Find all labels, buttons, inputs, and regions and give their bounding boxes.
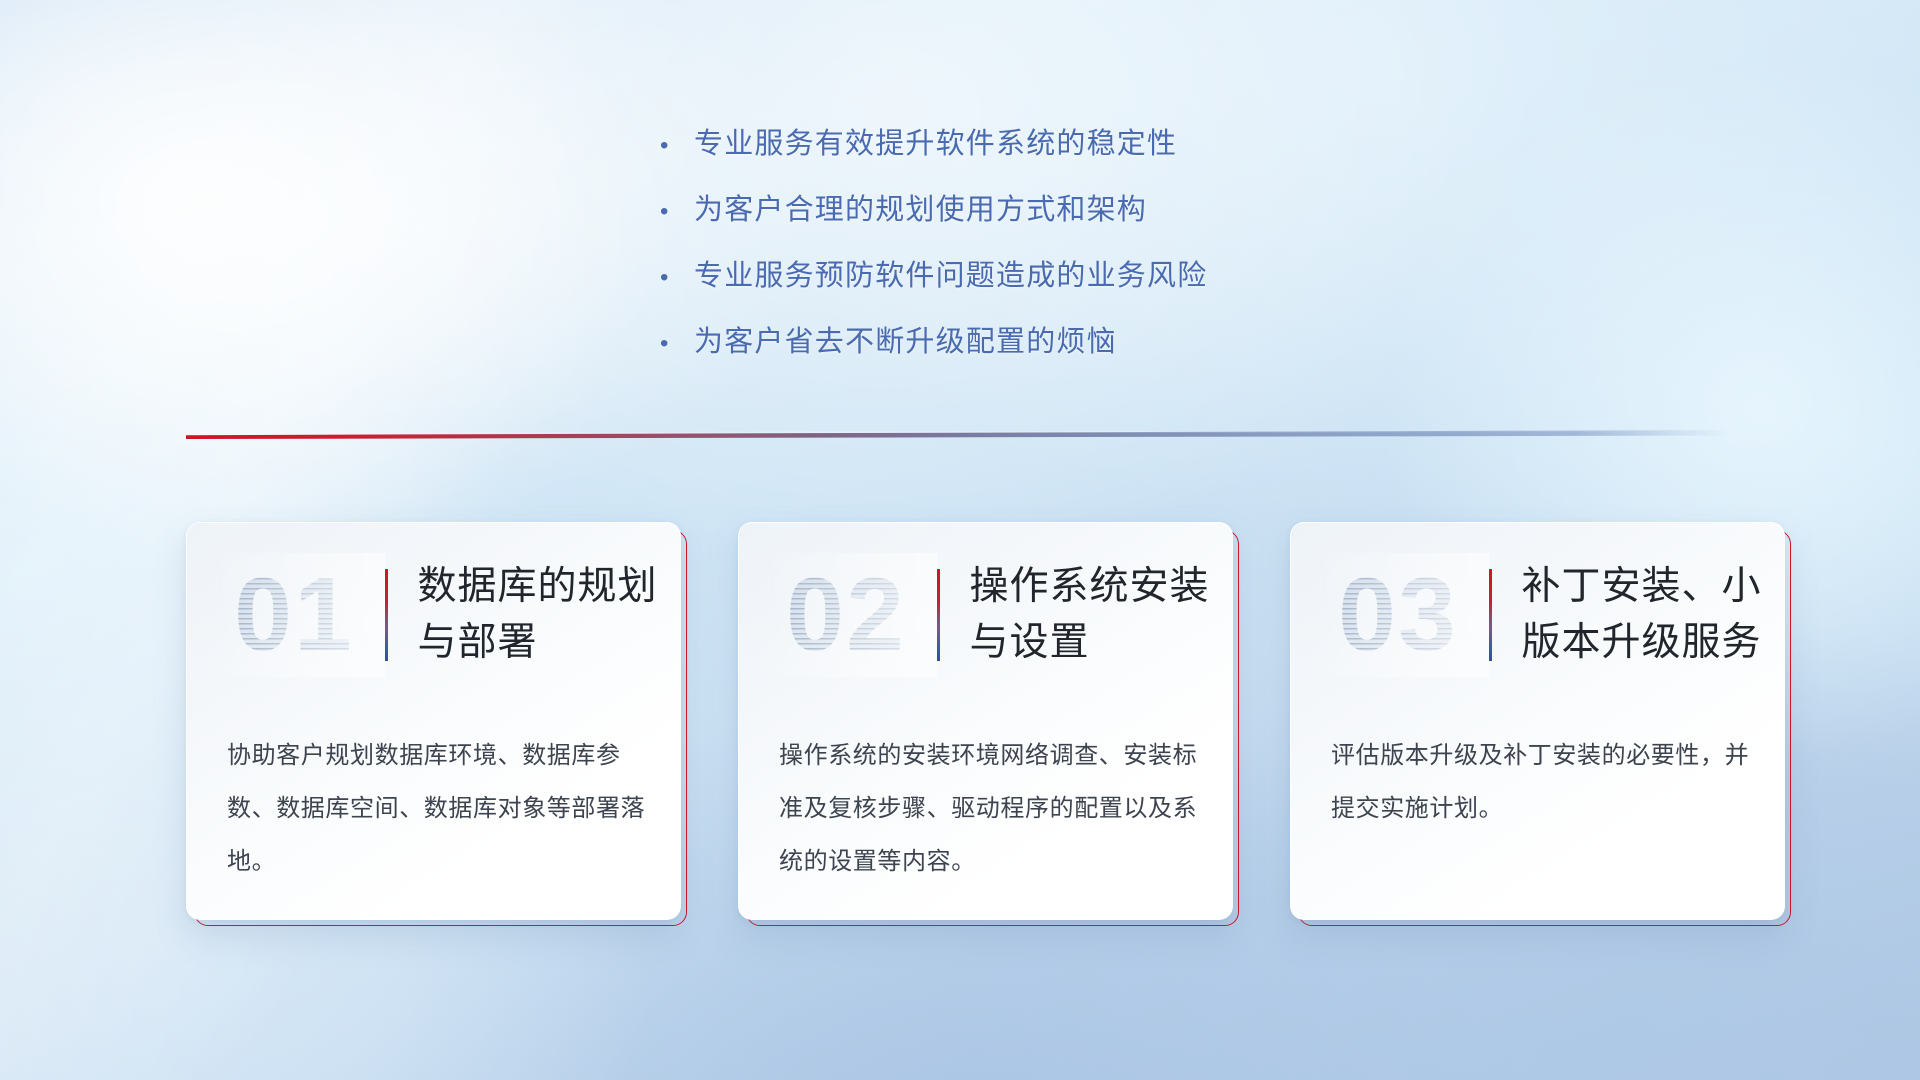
bullet-text: 为客户省去不断升级配置的烦恼: [694, 310, 1117, 374]
card-surface: 02 操作系统安装与设置 操作系统的安装环境网络调查、安装标准及复核步骤、驱动程…: [738, 522, 1233, 920]
card-description: 协助客户规划数据库环境、数据库参数、数据库空间、数据库对象等部署落地。: [227, 729, 646, 888]
list-item: • 专业服务预防软件问题造成的业务风险: [660, 244, 1440, 310]
service-card-group: 01 数据库的规划与部署 协助客户规划数据库环境、数据库参数、数据库空间、数据库…: [186, 522, 1785, 920]
bullet-text: 专业服务预防软件问题造成的业务风险: [694, 244, 1207, 308]
bullet-dot-icon: •: [660, 312, 694, 376]
service-card-02[interactable]: 02 操作系统安装与设置 操作系统的安装环境网络调查、安装标准及复核步骤、驱动程…: [738, 522, 1233, 920]
list-item: • 为客户合理的规划使用方式和架构: [660, 178, 1440, 244]
card-description: 评估版本升级及补丁安装的必要性，并提交实施计划。: [1331, 729, 1750, 835]
section-divider: [186, 430, 1728, 439]
card-header: 02 操作系统安装与设置: [739, 553, 1232, 677]
card-description: 操作系统的安装环境网络调查、安装标准及复核步骤、驱动程序的配置以及系统的设置等内…: [779, 729, 1198, 888]
card-surface: 03 补丁安装、小版本升级服务 评估版本升级及补丁安装的必要性，并提交实施计划。: [1290, 522, 1785, 920]
bullet-dot-icon: •: [660, 246, 694, 310]
card-title-rule: [937, 569, 940, 661]
benefits-bullet-list: • 专业服务有效提升软件系统的稳定性 • 为客户合理的规划使用方式和架构 • 专…: [660, 112, 1440, 376]
background-glow-top-left: [0, 0, 640, 580]
list-item: • 为客户省去不断升级配置的烦恼: [660, 310, 1440, 376]
bullet-text: 专业服务有效提升软件系统的稳定性: [694, 112, 1177, 176]
service-card-01[interactable]: 01 数据库的规划与部署 协助客户规划数据库环境、数据库参数、数据库空间、数据库…: [186, 522, 681, 920]
bullet-dot-icon: •: [660, 180, 694, 244]
card-number: 03: [1307, 553, 1489, 677]
bullet-dot-icon: •: [660, 114, 694, 178]
card-title: 数据库的规划与部署: [418, 559, 681, 671]
card-title-rule: [1489, 569, 1492, 661]
card-title: 补丁安装、小版本升级服务: [1522, 559, 1785, 671]
card-header: 01 数据库的规划与部署: [187, 553, 680, 677]
list-item: • 专业服务有效提升软件系统的稳定性: [660, 112, 1440, 178]
card-title-rule: [385, 569, 388, 661]
bullet-text: 为客户合理的规划使用方式和架构: [694, 178, 1147, 242]
card-title: 操作系统安装与设置: [970, 559, 1233, 671]
card-header: 03 补丁安装、小版本升级服务: [1291, 553, 1784, 677]
card-surface: 01 数据库的规划与部署 协助客户规划数据库环境、数据库参数、数据库空间、数据库…: [186, 522, 681, 920]
slide-canvas: • 专业服务有效提升软件系统的稳定性 • 为客户合理的规划使用方式和架构 • 专…: [0, 0, 1920, 1080]
service-card-03[interactable]: 03 补丁安装、小版本升级服务 评估版本升级及补丁安装的必要性，并提交实施计划。: [1290, 522, 1785, 920]
card-number: 01: [203, 553, 385, 677]
card-number: 02: [755, 553, 937, 677]
